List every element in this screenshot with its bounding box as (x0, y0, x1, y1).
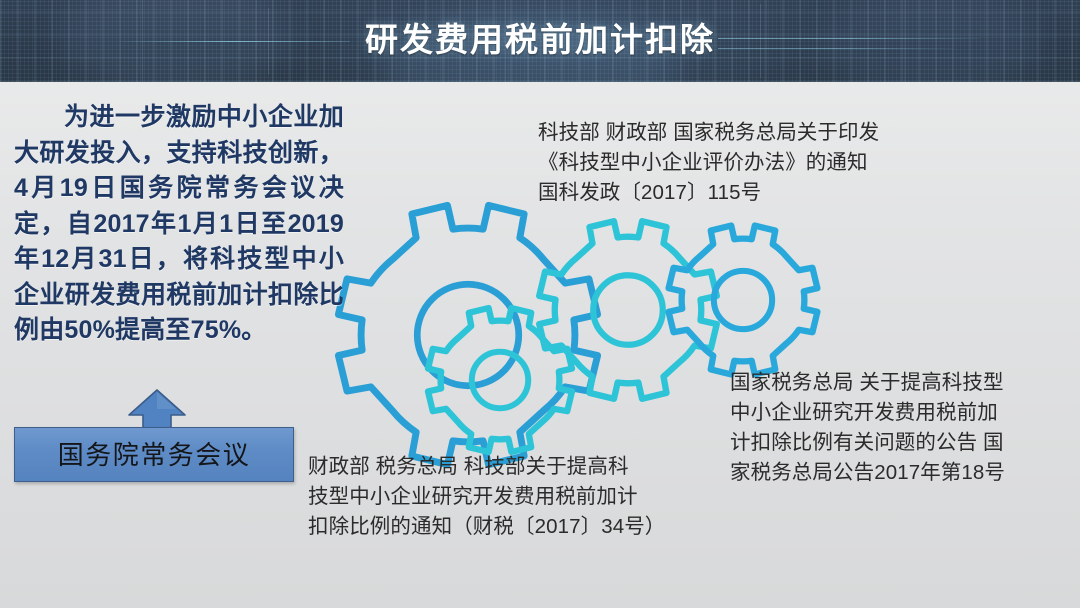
document-note-1: 科技部 财政部 国家税务总局关于印发 《科技型中小企业评价办法》的通知 国科发政… (538, 118, 958, 208)
lead-paragraph: 为进一步激励中小企业加大研发投入，支持科技创新，4月19日国务院常务会议决定，自… (14, 100, 344, 349)
document-note-2: 国家税务总局 关于提高科技型 中小企业研究开发费用税前加 计扣除比例有关问题的公… (730, 368, 1080, 488)
gear-icon-middle (539, 221, 717, 399)
slide-canvas: 研发费用税前加计扣除 (0, 0, 1080, 608)
callout-state-council-meeting[interactable]: 国务院常务会议 (14, 427, 294, 482)
gear-icon-small-lower (428, 308, 572, 452)
gear-icon-large (338, 205, 597, 464)
page-title: 研发费用税前加计扣除 (0, 17, 1080, 63)
slide-header-banner: 研发费用税前加计扣除 (0, 0, 1080, 82)
gear-icon-right (669, 226, 818, 375)
document-note-3: 财政部 税务总局 科技部关于提高科 技型中小企业研究开发费用税前加计 扣除比例的… (308, 452, 728, 542)
callout-label: 国务院常务会议 (58, 440, 251, 470)
